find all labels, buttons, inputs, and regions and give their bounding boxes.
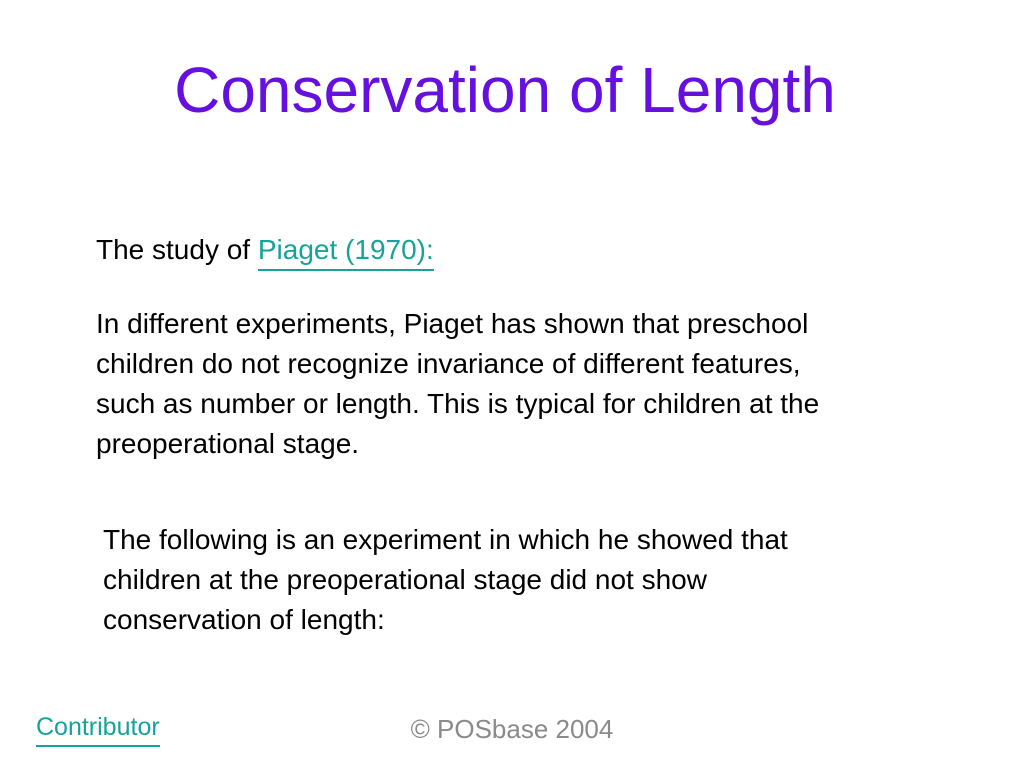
citation-link-piaget-1970[interactable]: Piaget (1970): [258,235,434,271]
slide-body: The study of Piaget (1970): In different… [96,230,896,640]
study-of-line: The study of Piaget (1970): [96,230,896,271]
slide-footer: Contributor © POSbase 2004 [0,712,1024,756]
copyright-notice: © POSbase 2004 [0,714,1024,744]
slide: Conservation of Length The study of Piag… [0,0,1024,768]
paragraph-experiment-intro: The following is an experiment in which … [103,520,833,640]
study-of-label: The study of [96,234,258,265]
paragraph-invariance: In different experiments, Piaget has sho… [96,304,856,464]
page-title: Conservation of Length [0,58,1010,122]
